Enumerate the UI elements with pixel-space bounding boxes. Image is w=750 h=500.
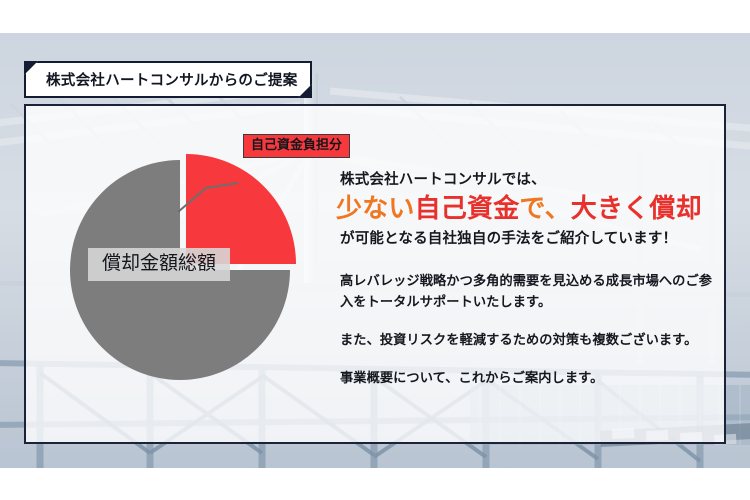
- copy-block: 株式会社ハートコンサルでは、 少ない自己資金で、大きく償却 が可能となる自社独自…: [340, 168, 720, 389]
- page-title: 株式会社ハートコンサルからのご提案: [26, 69, 298, 90]
- copy-sub: が可能となる自社独自の手法をご紹介しています！: [340, 227, 720, 248]
- copy-paragraph-1: 高レバレッジ戦略かつ多角的需要を見込める成長市場へのご参入をトータルサポートいた…: [340, 270, 720, 312]
- copy-headline: 少ない自己資金で、大きく償却: [336, 194, 720, 222]
- pie-label-shokyaku: 償却金額総額: [88, 248, 230, 281]
- headline-segment-2: 自己資金: [415, 193, 520, 223]
- headline-segment-1: 少ない: [336, 193, 415, 223]
- headline-segment-3: で、: [519, 193, 570, 223]
- copy-paragraph-2: また、投資リスクを軽減するための対策も複数ございます。: [340, 329, 720, 350]
- pie-label-jikoshikin: 自己資金負担分: [243, 134, 350, 158]
- copy-lead: 株式会社ハートコンサルでは、: [340, 168, 720, 189]
- headline-segment-4: 大きく償却: [571, 193, 702, 223]
- header-banner: 株式会社ハートコンサルからのご提案: [24, 61, 312, 98]
- slide-root: 株式会社ハートコンサルからのご提案 自己資金負担分 償却金額総額 株式会社ハート…: [0, 0, 750, 500]
- copy-paragraph-3: 事業概要について、これからご案内します。: [340, 367, 720, 388]
